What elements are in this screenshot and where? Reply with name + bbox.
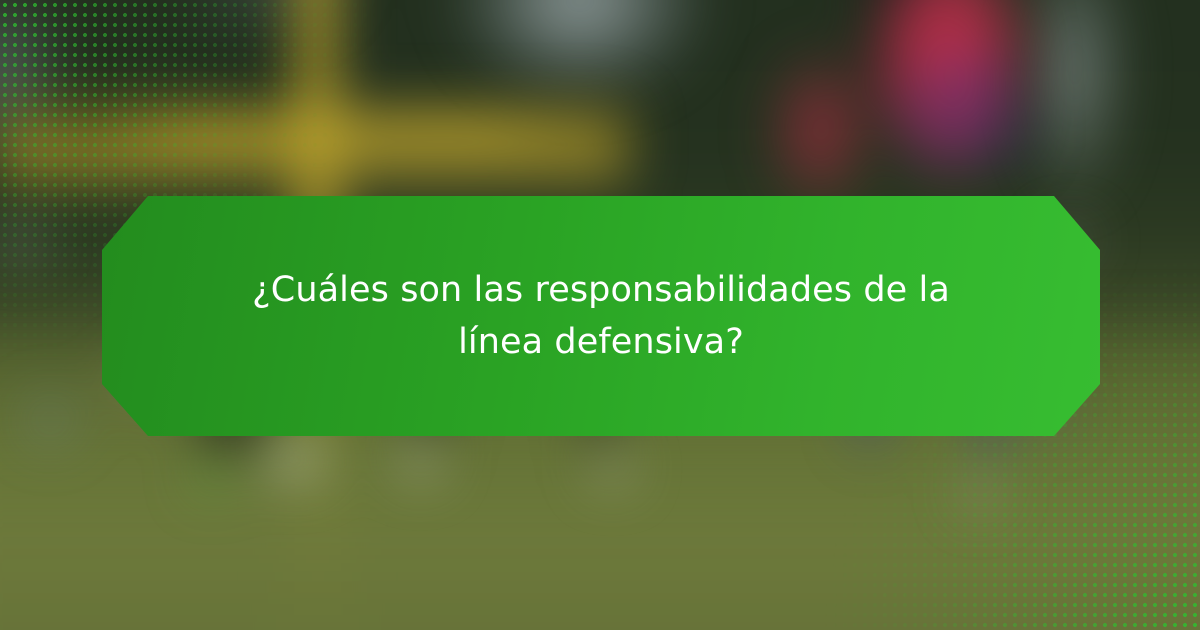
share-card-canvas: ¿Cuáles son las responsabilidades de la … (0, 0, 1200, 630)
title-banner: ¿Cuáles son las responsabilidades de la … (102, 196, 1100, 436)
banner-title-text: ¿Cuáles son las responsabilidades de la … (206, 264, 996, 368)
